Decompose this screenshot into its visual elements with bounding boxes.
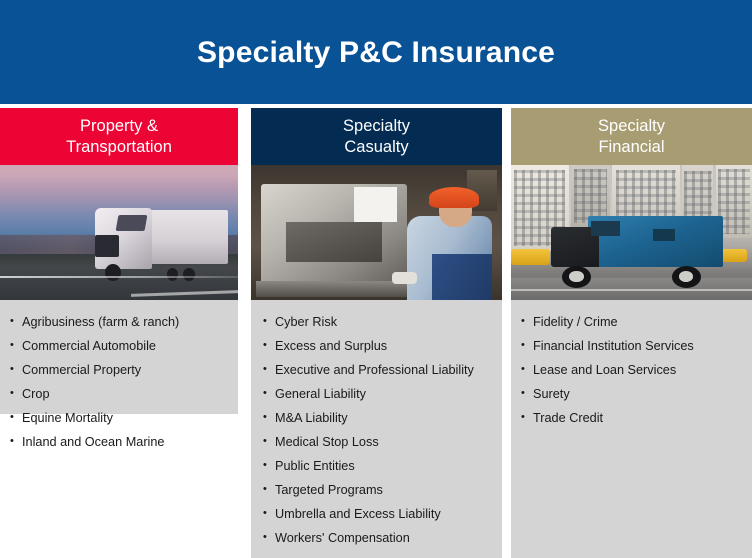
column-header-line1: Specialty (343, 116, 410, 137)
armored-truck-shape (540, 216, 723, 281)
machine-housing-shape (286, 222, 381, 263)
title-banner: Specialty P&C Insurance (0, 0, 752, 104)
list-item: Cyber Risk (251, 310, 502, 334)
list-item: Executive and Professional Liability (251, 358, 502, 382)
truck-windshield-shape (115, 215, 146, 231)
list-item: Fidelity / Crime (511, 310, 752, 334)
bullet-list-specialty-financial: Fidelity / Crime Financial Institution S… (511, 310, 752, 430)
truck-scene (0, 165, 238, 300)
list-item: Workers' Compensation (251, 526, 502, 550)
armored-wheel-shape (672, 266, 701, 288)
worker-glove-shape (392, 272, 417, 284)
semi-truck-highway-image (0, 165, 238, 300)
list-item: Umbrella and Excess Liability (251, 502, 502, 526)
column-header-line2: Casualty (344, 137, 408, 158)
list-item: Targeted Programs (251, 478, 502, 502)
list-item: Trade Credit (511, 406, 752, 430)
machine-paper-shape (354, 187, 397, 222)
column-header-line1: Specialty (598, 116, 665, 137)
curb-line-shape (511, 289, 752, 291)
truck-wheel-shape (167, 268, 179, 282)
list-item: Medical Stop Loss (251, 430, 502, 454)
truck-wheel-shape (105, 264, 122, 282)
list-item: General Liability (251, 382, 502, 406)
worker-overalls-shape (432, 254, 492, 300)
city-street-scene (511, 165, 752, 300)
list-item: Lease and Loan Services (511, 358, 752, 382)
truck-trailer-shape (143, 210, 229, 264)
column-header-line2: Financial (598, 137, 664, 158)
hard-hat-shape (429, 187, 479, 209)
list-item: Commercial Automobile (0, 334, 238, 358)
list-panel-property-transportation: Agribusiness (farm & ranch) Commercial A… (0, 300, 238, 414)
road-marking-shape (0, 276, 238, 278)
slide-root: Specialty P&C Insurance Property & Trans… (0, 0, 752, 548)
list-item: Equine Mortality (0, 406, 238, 430)
armored-windshield-shape (591, 221, 620, 235)
column-header-property-transportation: Property & Transportation (0, 108, 238, 165)
column-header-specialty-financial: Specialty Financial (511, 108, 752, 165)
list-item: Commercial Property (0, 358, 238, 382)
bullet-list-property-transportation: Agribusiness (farm & ranch) Commercial A… (0, 310, 238, 454)
factory-scene (251, 165, 502, 300)
list-panel-specialty-financial: Fidelity / Crime Financial Institution S… (511, 300, 752, 558)
bullet-list-specialty-casualty: Cyber Risk Excess and Surplus Executive … (251, 310, 502, 550)
armored-side-window-shape (653, 229, 675, 241)
armored-truck-image (511, 165, 752, 300)
list-item: Surety (511, 382, 752, 406)
truck-wheel-shape (183, 268, 195, 282)
armored-wheel-shape (562, 266, 591, 288)
list-panel-specialty-casualty: Cyber Risk Excess and Surplus Executive … (251, 300, 502, 558)
column-header-line1: Property & (80, 116, 158, 137)
list-item: Agribusiness (farm & ranch) (0, 310, 238, 334)
column-specialty-financial: Specialty Financial (511, 108, 752, 558)
column-property-transportation: Property & Transportation Agribusiness (… (0, 108, 238, 414)
list-item: M&A Liability (251, 406, 502, 430)
building-windows-shape (574, 169, 608, 224)
column-header-specialty-casualty: Specialty Casualty (251, 108, 502, 165)
factory-worker-image (251, 165, 502, 300)
road-marking-shape (131, 290, 238, 297)
truck-grille-shape (95, 235, 119, 257)
column-specialty-casualty: Specialty Casualty Cyber Risk Excess and… (251, 108, 502, 558)
list-item: Crop (0, 382, 238, 406)
list-item: Public Entities (251, 454, 502, 478)
list-item: Excess and Surplus (251, 334, 502, 358)
page-title: Specialty P&C Insurance (0, 36, 752, 70)
list-item: Financial Institution Services (511, 334, 752, 358)
list-item: Inland and Ocean Marine (0, 430, 238, 454)
column-header-line2: Transportation (66, 137, 172, 158)
